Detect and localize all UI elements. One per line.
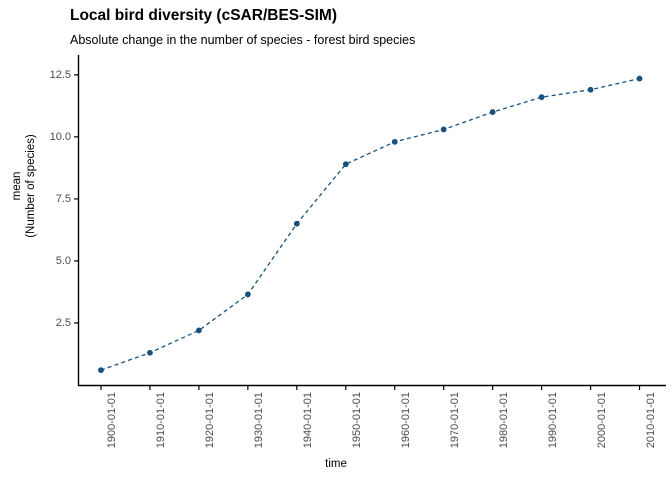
data-point — [294, 221, 300, 227]
data-point — [490, 109, 496, 115]
data-point — [98, 367, 104, 373]
data-point — [245, 292, 251, 298]
data-point — [196, 328, 202, 334]
data-point — [392, 139, 398, 145]
data-point — [539, 94, 545, 100]
axis-lines — [78, 55, 666, 386]
data-point — [147, 350, 153, 356]
plot-area — [0, 0, 672, 480]
data-point — [588, 87, 594, 93]
data-point — [441, 127, 447, 133]
data-point — [343, 161, 349, 167]
chart-container: Local bird diversity (cSAR/BES-SIM) Abso… — [0, 0, 672, 480]
series-path — [101, 79, 640, 371]
series-line — [101, 79, 640, 371]
series-points — [98, 76, 642, 373]
data-point — [637, 76, 643, 82]
